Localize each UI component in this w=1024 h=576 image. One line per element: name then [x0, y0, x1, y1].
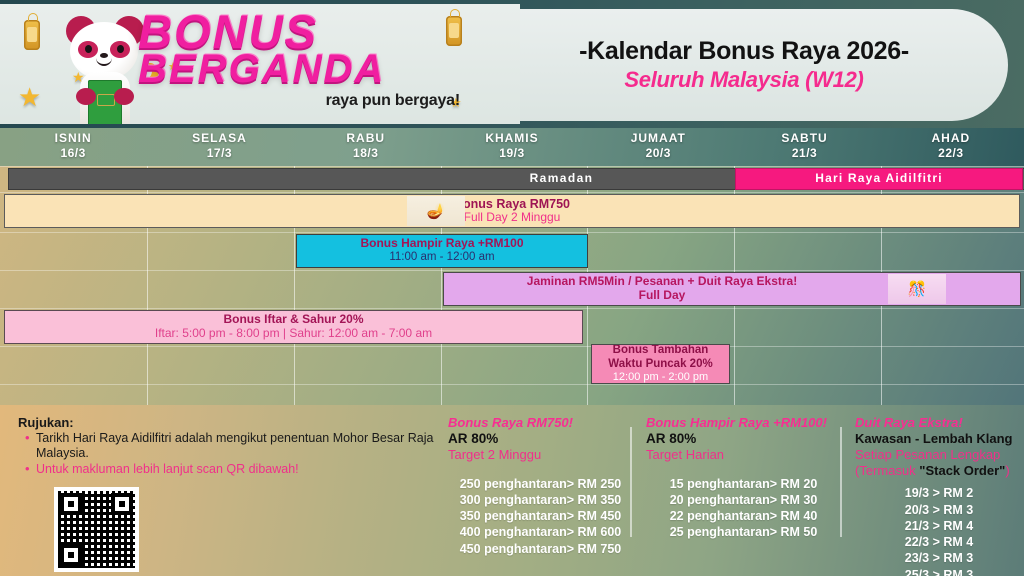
info-row: 20 penghantaran> RM 30	[646, 492, 841, 508]
event-title: Ramadan	[530, 172, 594, 186]
event-title: Bonus Hampir Raya +RM100	[360, 237, 523, 251]
info-rows: 19/3 > RM 2 20/3 > RM 3 21/3 > RM 4 22/3…	[855, 485, 1023, 576]
info-row: 300 penghantaran> RM 350	[448, 492, 633, 508]
brand-tagline: raya pun bergaya!	[138, 92, 468, 110]
day-header-rabu: RABU 18/3	[293, 128, 439, 166]
day-date: 17/3	[146, 146, 292, 160]
day-name: SABTU	[781, 131, 827, 145]
event-jaminan-rm5min[interactable]: 🎊 Jaminan RM5Min / Pesanan + Duit Raya E…	[443, 272, 1021, 306]
day-header-sabtu: SABTU 21/3	[731, 128, 877, 166]
page-title: -Kalendar Bonus Raya 2026-	[579, 37, 909, 66]
raya-photo-thumbnail: 🪔	[407, 196, 465, 226]
event-bonus-hampir-raya[interactable]: Bonus Hampir Raya +RM100 11:00 am - 12:0…	[296, 234, 588, 268]
note2-post: )	[1005, 463, 1009, 478]
info-title: Bonus Raya RM750!	[448, 415, 633, 431]
day-header-ahad: AHAD 22/3	[878, 128, 1024, 166]
day-name: RABU	[346, 131, 385, 145]
day-name: JUMAAT	[631, 131, 686, 145]
event-title: Bonus Raya RM750	[454, 197, 570, 211]
rujukan-item-1: Tarikh Hari Raya Aidilfitri adalah mengi…	[18, 431, 438, 462]
day-date: 19/3	[439, 146, 585, 160]
star-icon-1: ★	[18, 84, 41, 110]
info-ar: AR 80%	[448, 431, 633, 448]
day-date: 21/3	[731, 146, 877, 160]
day-date: 22/3	[878, 146, 1024, 160]
event-time: Full Day	[639, 289, 686, 303]
rujukan-list: Tarikh Hari Raya Aidilfitri adalah mengi…	[18, 431, 438, 477]
title-pill: -Kalendar Bonus Raya 2026- Seluruh Malay…	[520, 9, 1008, 121]
day-header-khamis: KHAMIS 19/3	[439, 128, 585, 166]
event-time: Iftar: 5:00 pm - 8:00 pm | Sahur: 12:00 …	[155, 327, 432, 341]
info-note-2: (Termasuk "Stack Order")	[855, 463, 1023, 479]
info-note-1: Setiap Pesanan Lengkap	[855, 447, 1023, 463]
event-bonus-raya-rm750[interactable]: 🪔 Bonus Raya RM750 Full Day 2 Minggu	[4, 194, 1020, 228]
info-title: Duit Raya Ekstra!	[855, 415, 1023, 431]
event-title: Hari Raya Aidilfitri	[815, 172, 943, 186]
event-title-2: Waktu Puncak 20%	[608, 358, 712, 371]
event-title: Bonus Tambahan	[613, 344, 709, 357]
lantern-icon-left	[24, 20, 40, 50]
note2-bold: "Stack Order"	[919, 463, 1005, 478]
info-row: 22/3 > RM 4	[855, 534, 1023, 550]
event-time: Full Day 2 Minggu	[464, 211, 561, 225]
info-rows: 250 penghantaran> RM 250 300 penghantara…	[448, 476, 633, 557]
day-name: ISNIN	[55, 131, 92, 145]
info-row: 21/3 > RM 4	[855, 518, 1023, 534]
day-header-selasa: SELASA 17/3	[146, 128, 292, 166]
info-row: 25/3 > RM 3	[855, 567, 1023, 576]
info-row: 22 penghantaran> RM 40	[646, 508, 841, 524]
info-box-duit-raya-ekstra: Duit Raya Ekstra! Kawasan - Lembah Klang…	[855, 415, 1023, 576]
qr-code[interactable]	[54, 487, 139, 572]
rujukan-title: Rujukan:	[18, 415, 438, 430]
info-area: Kawasan - Lembah Klang	[855, 431, 1023, 447]
info-row: 20/3 > RM 3	[855, 502, 1023, 518]
info-target: Target 2 Minggu	[448, 447, 633, 463]
event-title: Jaminan RM5Min / Pesanan + Duit Raya Eks…	[527, 275, 797, 289]
info-row: 23/3 > RM 3	[855, 550, 1023, 566]
duit-raya-photo-thumbnail: 🎊	[888, 274, 946, 304]
info-ar: AR 80%	[646, 431, 841, 448]
calendar-grid: Ramadan Hari Raya Aidilfitri 🪔 Bonus Ray…	[0, 166, 1024, 405]
day-name: AHAD	[931, 131, 970, 145]
event-bonus-tambahan-waktu-puncak[interactable]: Bonus Tambahan Waktu Puncak 20% 12:00 pm…	[591, 344, 730, 384]
info-row: 400 penghantaran> RM 600	[448, 524, 633, 540]
day-header-jumaat: JUMAAT 20/3	[585, 128, 731, 166]
info-rows: 15 penghantaran> RM 20 20 penghantaran> …	[646, 476, 841, 541]
event-time: 11:00 am - 12:00 am	[389, 251, 494, 264]
info-row: 250 penghantaran> RM 250	[448, 476, 633, 492]
day-name: SELASA	[192, 131, 247, 145]
header-banner: ★ ★ ★ ★ BONUS BERGANDA raya pun	[0, 0, 1024, 128]
day-date: 18/3	[293, 146, 439, 160]
day-date: 16/3	[0, 146, 146, 160]
event-hari-raya-aidilfitri[interactable]: Hari Raya Aidilfitri	[735, 168, 1023, 190]
event-time: 12:00 pm - 2:00 pm	[613, 371, 708, 384]
note2-pre: (Termasuk	[855, 463, 919, 478]
event-bonus-iftar-sahur[interactable]: Bonus Iftar & Sahur 20% Iftar: 5:00 pm -…	[4, 310, 583, 344]
info-row: 350 penghantaran> RM 450	[448, 508, 633, 524]
page-subtitle: Seluruh Malaysia (W12)	[624, 67, 863, 93]
info-row: 450 penghantaran> RM 750	[448, 541, 633, 557]
event-title: Bonus Iftar & Sahur 20%	[223, 313, 363, 327]
footer-notes: Rujukan: Tarikh Hari Raya Aidilfitri ada…	[0, 405, 1024, 576]
info-box-bonus-raya: Bonus Raya RM750! AR 80% Target 2 Minggu…	[448, 415, 633, 557]
info-row: 25 penghantaran> RM 50	[646, 524, 841, 540]
day-name: KHAMIS	[485, 131, 538, 145]
day-header-row: ISNIN 16/3 SELASA 17/3 RABU 18/3 KHAMIS …	[0, 128, 1024, 166]
brand-line-2: BERGANDA	[138, 51, 468, 88]
panda-mascot	[58, 12, 150, 124]
info-box-bonus-hampir-raya: Bonus Hampir Raya +RM100! AR 80% Target …	[646, 415, 841, 541]
rujukan-block: Rujukan: Tarikh Hari Raya Aidilfitri ada…	[18, 415, 438, 477]
day-date: 20/3	[585, 146, 731, 160]
day-header-isnin: ISNIN 16/3	[0, 128, 146, 166]
info-target: Target Harian	[646, 447, 841, 463]
bonus-raya-calendar-page: ★ ★ ★ ★ BONUS BERGANDA raya pun	[0, 0, 1024, 576]
rujukan-item-2: Untuk makluman lebih lanjut scan QR diba…	[18, 462, 438, 477]
info-row: 15 penghantaran> RM 20	[646, 476, 841, 492]
info-title: Bonus Hampir Raya +RM100!	[646, 415, 841, 431]
brand-panel: ★ ★ ★ ★ BONUS BERGANDA raya pun	[0, 4, 520, 124]
info-row: 19/3 > RM 2	[855, 485, 1023, 501]
brand-logo: BONUS BERGANDA raya pun bergaya!	[138, 10, 468, 124]
